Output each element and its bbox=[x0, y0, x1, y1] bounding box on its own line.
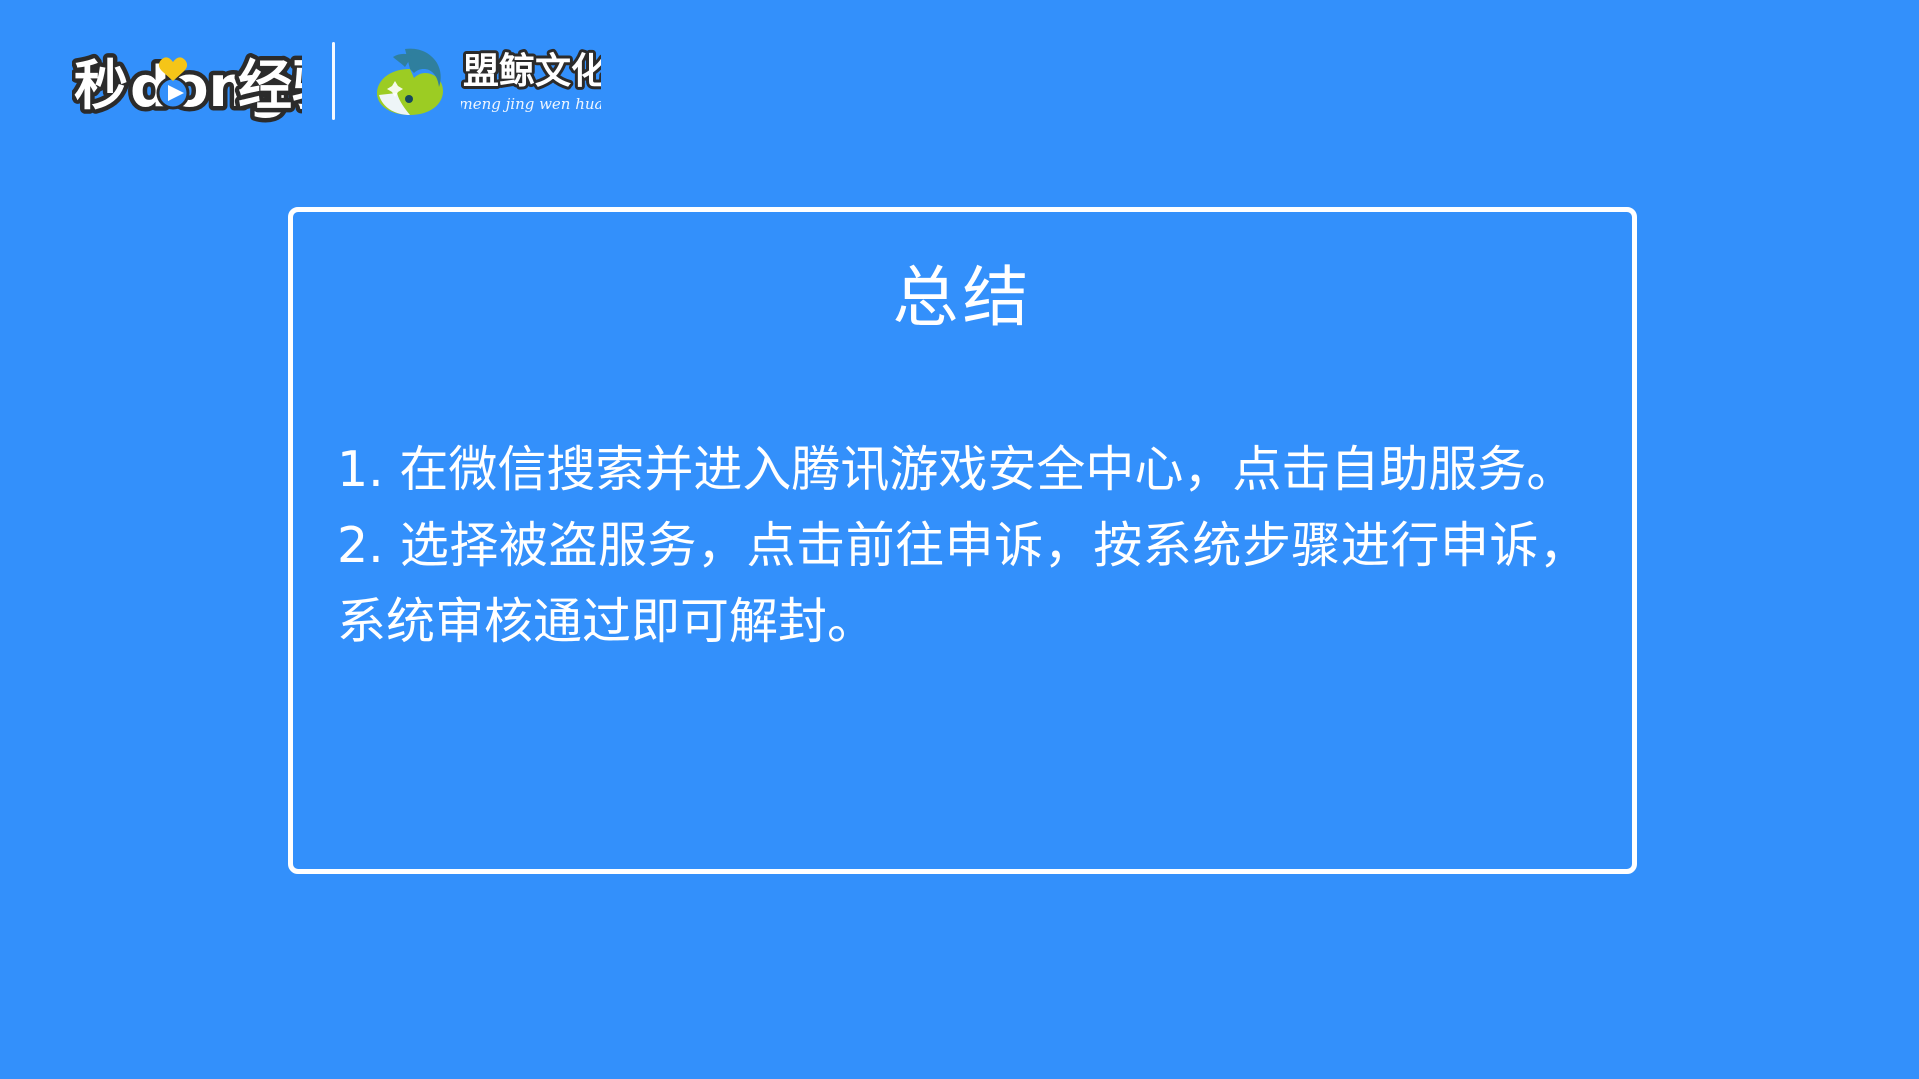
mengjing-wenhua-wordmark: 盟鲸文化 盟鲸文化 bbox=[461, 47, 601, 93]
primary-brand-logo[interactable]: 秒 秒 dong dong 经验 经验 bbox=[72, 38, 302, 124]
secondary-brand-logo[interactable]: 盟鲸文化 盟鲸文化 meng jing wen hua bbox=[369, 38, 601, 124]
summary-panel: 总结 1. 在微信搜索并进入腾讯游戏安全中心，点击自助服务。 2. 选择被盗服务… bbox=[288, 207, 1637, 874]
brand-divider bbox=[332, 42, 335, 120]
svg-text:经验: 经验 bbox=[238, 54, 302, 117]
whale-icon bbox=[369, 43, 451, 119]
miaodong-jingyan-wordmark: 秒 秒 dong dong 经验 经验 bbox=[72, 38, 302, 124]
svg-text:meng jing wen hua: meng jing wen hua bbox=[461, 95, 601, 113]
summary-step-2: 2. 选择被盗服务，点击前往申诉，按系统步骤进行申诉，系统审核通过即可解封。 bbox=[337, 508, 1588, 660]
mengjing-wenhua-pinyin: meng jing wen hua bbox=[461, 93, 601, 115]
summary-body: 1. 在微信搜索并进入腾讯游戏安全中心，点击自助服务。 2. 选择被盗服务，点击… bbox=[337, 432, 1588, 660]
header: 秒 秒 dong dong 经验 经验 bbox=[72, 38, 601, 124]
secondary-brand-text: 盟鲸文化 盟鲸文化 meng jing wen hua bbox=[461, 47, 601, 115]
summary-step-1: 1. 在微信搜索并进入腾讯游戏安全中心，点击自助服务。 bbox=[337, 432, 1588, 508]
page-title: 总结 bbox=[293, 265, 1632, 331]
svg-text:秒: 秒 bbox=[74, 54, 128, 117]
svg-text:盟鲸文化: 盟鲸文化 bbox=[463, 51, 601, 92]
